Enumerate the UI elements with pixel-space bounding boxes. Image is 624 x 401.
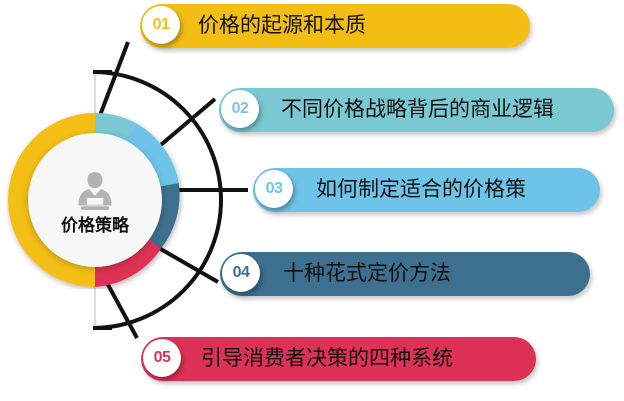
item-badge-04: 04: [222, 254, 260, 292]
list-item[interactable]: 05 引导消费者决策的四种系统: [141, 337, 536, 381]
list-item[interactable]: 04 十种花式定价方法: [220, 252, 590, 296]
item-label-02: 不同价格战略背后的商业逻辑: [281, 88, 554, 132]
item-number-01: 01: [153, 16, 170, 34]
hub-label: 价格策略: [61, 217, 129, 234]
list-item[interactable]: 03 如何制定适合的价格策: [253, 168, 600, 212]
item-label-05: 引导消费者决策的四种系统: [201, 337, 453, 381]
item-label-01: 价格的起源和本质: [198, 4, 366, 48]
item-label-04: 十种花式定价方法: [283, 252, 451, 296]
item-label-03: 如何制定适合的价格策: [316, 168, 526, 212]
infographic-canvas: 价格策略 01 价格的起源和本质 02 不同价格战略背后的商业逻辑 03 如何制…: [0, 0, 624, 401]
item-number-05: 05: [154, 349, 171, 367]
item-badge-02: 02: [221, 90, 259, 128]
item-badge-03: 03: [255, 170, 293, 208]
hub-core: 价格策略: [28, 133, 162, 267]
list-item[interactable]: 02 不同价格战略背后的商业逻辑: [219, 88, 614, 132]
person-with-laptop-icon: [71, 168, 119, 216]
item-badge-01: 01: [142, 6, 180, 44]
item-number-03: 03: [266, 180, 283, 198]
list-item[interactable]: 01 价格的起源和本质: [140, 4, 530, 48]
item-number-02: 02: [232, 100, 249, 118]
hub: 价格策略: [6, 111, 184, 289]
item-badge-05: 05: [143, 339, 181, 377]
spoke-01: [99, 42, 128, 118]
item-number-04: 04: [233, 264, 250, 282]
